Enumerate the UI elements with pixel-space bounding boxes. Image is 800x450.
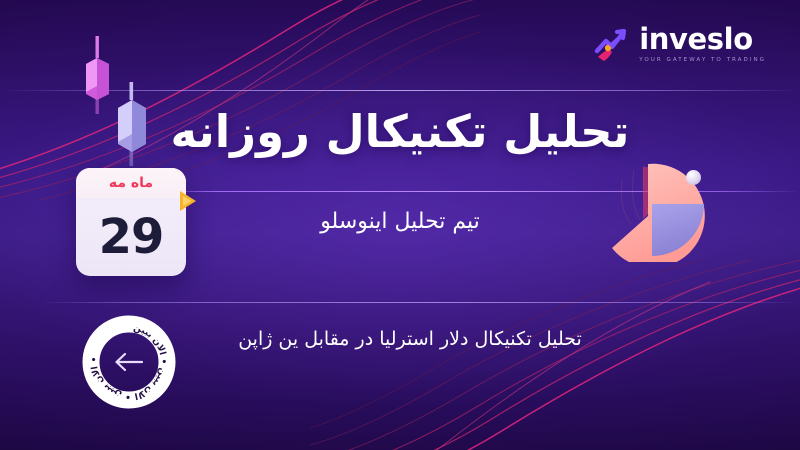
presentation-slide: inveslo YOUR GATEWAY TO TRADING ماه مه 2…	[0, 0, 800, 450]
wave-lines-top-left	[0, 0, 480, 200]
sphere-icon	[686, 170, 701, 185]
arrow-left-icon[interactable]	[109, 342, 149, 382]
wave-lines-bottom-right	[310, 260, 800, 450]
divider-bottom	[40, 302, 800, 303]
page-description: تحلیل تکنیکال دلار استرلیا در مقابل ین ژ…	[190, 325, 630, 354]
calendar-month-label: ماه مه	[109, 175, 153, 191]
page-subtitle: تیم تحلیل اینوسلو	[0, 209, 800, 234]
calendar-header: ماه مه	[76, 168, 186, 198]
brand-logo[interactable]: inveslo YOUR GATEWAY TO TRADING	[591, 24, 766, 64]
rocket-chart-arrow-icon	[591, 24, 631, 64]
watch-now-badge[interactable]: الان ببین • الان ببین • الان ببین •	[82, 315, 176, 409]
brand-name: inveslo	[639, 25, 766, 54]
page-title: تحلیل تکنیکال روزانه	[0, 105, 800, 158]
brand-tagline: YOUR GATEWAY TO TRADING	[639, 58, 766, 64]
